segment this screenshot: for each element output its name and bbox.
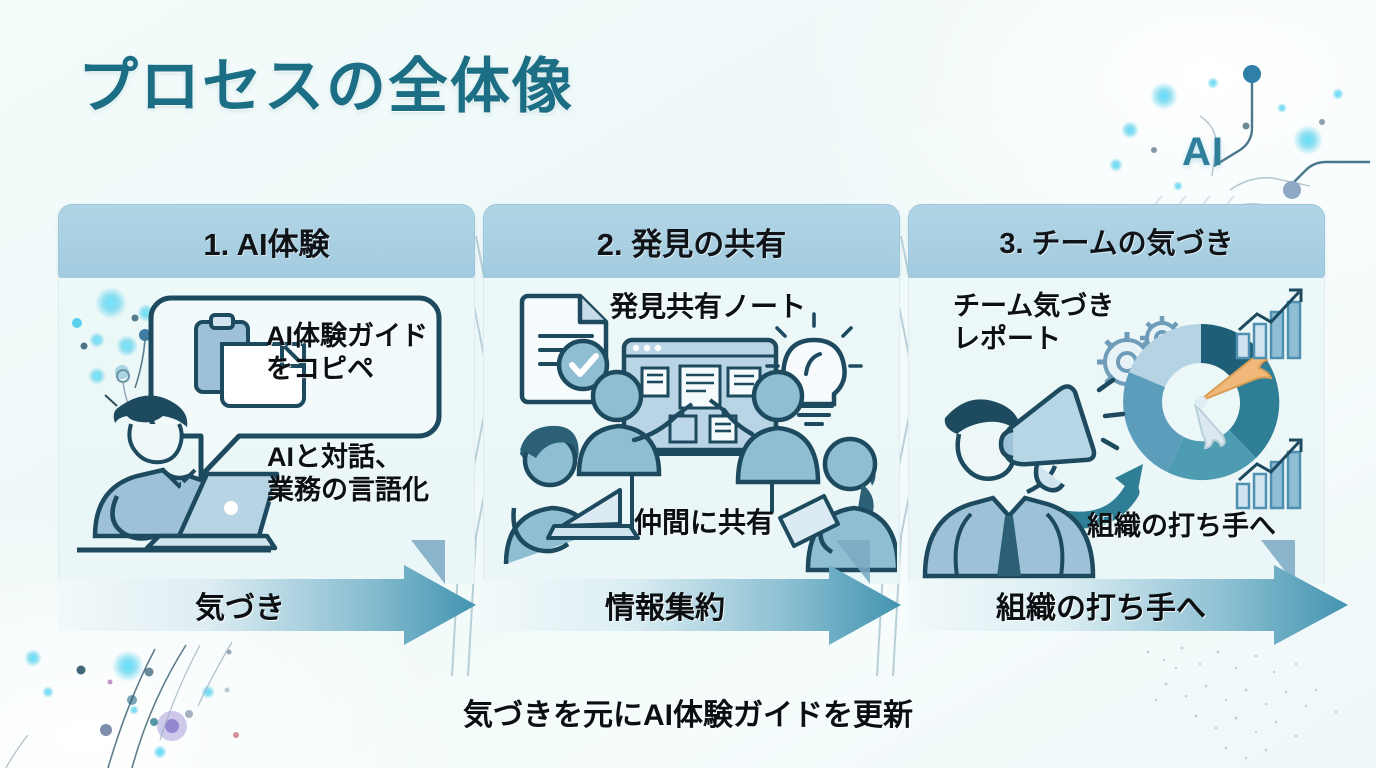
ai-particles-icon: [72, 287, 155, 411]
panel-2-header: 2. 発見の共有: [483, 204, 900, 278]
megaphone-person-icon: [925, 380, 1123, 576]
page-title: プロセスの全体像: [78, 38, 574, 125]
panel-2-caption: 仲間に共有: [634, 506, 774, 540]
panel-3-header-text: 3. チームの気づき: [999, 220, 1233, 262]
panel-step-3[interactable]: 3. チームの気づき: [908, 204, 1323, 584]
panel-1-header: 1. AI体験: [58, 204, 475, 278]
slide-canvas: プロセスの全体像 AI 1. AI体験: [0, 0, 1376, 768]
panel-step-1[interactable]: 1. AI体験: [58, 204, 473, 584]
panel-3-caption: 組織の打ち手へ: [1087, 510, 1276, 543]
feedback-loop-label: 気づきを元にAI体験ガイドを更新: [0, 690, 1376, 734]
panel-step-2[interactable]: 2. 発見の共有: [483, 204, 898, 584]
panel-2-body: 発見共有ノート 仲間に共有: [483, 278, 900, 584]
panel-1-bubble-text: AI体験ガイド をコピペ: [266, 320, 428, 386]
panel-3-header: 3. チームの気づき: [908, 204, 1325, 278]
panel-1-caption: AIと対話、 業務の言語化: [267, 441, 429, 507]
panel-1-header-text: 1. AI体験: [203, 219, 329, 264]
panel-2-header-text: 2. 発見の共有: [597, 219, 786, 264]
panel-3-top-label: チーム気づき レポート: [953, 290, 1114, 356]
panel-2-top-label: 発見共有ノート: [610, 290, 806, 324]
ai-badge: AI: [1182, 130, 1224, 175]
panel-3-body: チーム気づき レポート 組織の打ち手へ: [908, 278, 1325, 584]
panel-1-body: AI体験ガイド をコピペ AIと対話、 業務の言語化: [58, 278, 475, 584]
